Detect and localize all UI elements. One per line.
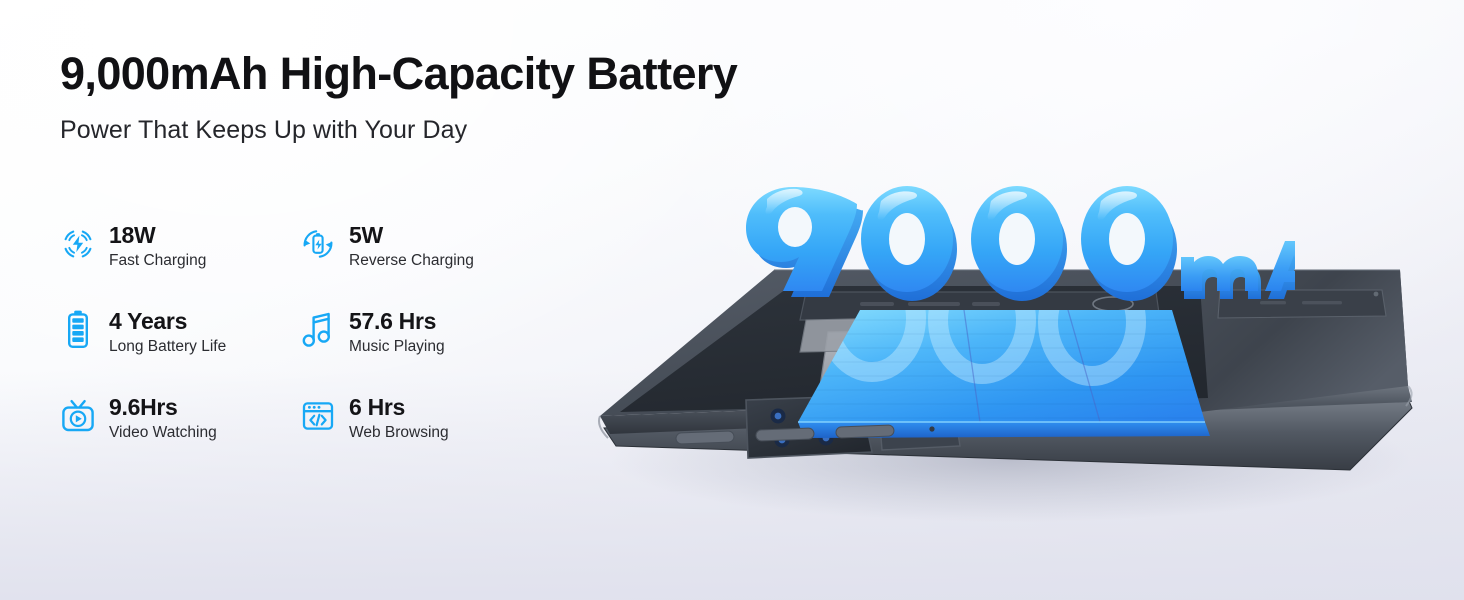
feature-text: 6 Hrs Web Browsing [349,394,449,442]
feature-value: 4 Years [109,309,226,335]
banner-heading-group: 9,000mAh High-Capacity Battery Power Tha… [60,50,737,145]
feature-web-browsing: 6 Hrs Web Browsing [298,394,538,480]
feature-label: Web Browsing [349,423,449,442]
reverse-charging-icon [298,222,338,266]
feature-text: 9.6Hrs Video Watching [109,394,217,442]
feature-battery-life: 4 Years Long Battery Life [58,308,298,394]
feature-text: 57.6 Hrs Music Playing [349,308,445,356]
feature-label: Fast Charging [109,251,206,270]
feature-fast-charging: 18W Fast Charging [58,222,298,308]
web-browser-code-icon [298,394,338,438]
page-subtitle: Power That Keeps Up with Your Day [60,116,737,145]
feature-value: 57.6 Hrs [349,309,445,335]
battery-life-icon [58,308,98,352]
feature-video-watching: 9.6Hrs Video Watching [58,394,298,480]
feature-label: Reverse Charging [349,251,474,270]
feature-value: 6 Hrs [349,395,449,421]
fast-charging-icon [58,222,98,266]
feature-label: Long Battery Life [109,337,226,356]
feature-label: Video Watching [109,423,217,442]
feature-value: 18W [109,223,206,249]
tablet-cutaway-illustration [560,150,1460,550]
feature-music-playing: 57.6 Hrs Music Playing [298,308,538,394]
video-tv-icon [58,394,98,438]
feature-reverse-charging: 5W Reverse Charging [298,222,538,308]
battery-feature-banner: 9,000mAh High-Capacity Battery Power Tha… [0,0,1464,600]
feature-text: 18W Fast Charging [109,222,206,270]
page-title: 9,000mAh High-Capacity Battery [60,50,737,99]
feature-text: 5W Reverse Charging [349,222,474,270]
feature-value: 5W [349,223,474,249]
music-note-icon [298,308,338,352]
feature-value: 9.6Hrs [109,395,217,421]
feature-list: 18W Fast Charging 5 [58,222,538,480]
feature-text: 4 Years Long Battery Life [109,308,226,356]
feature-label: Music Playing [349,337,445,356]
